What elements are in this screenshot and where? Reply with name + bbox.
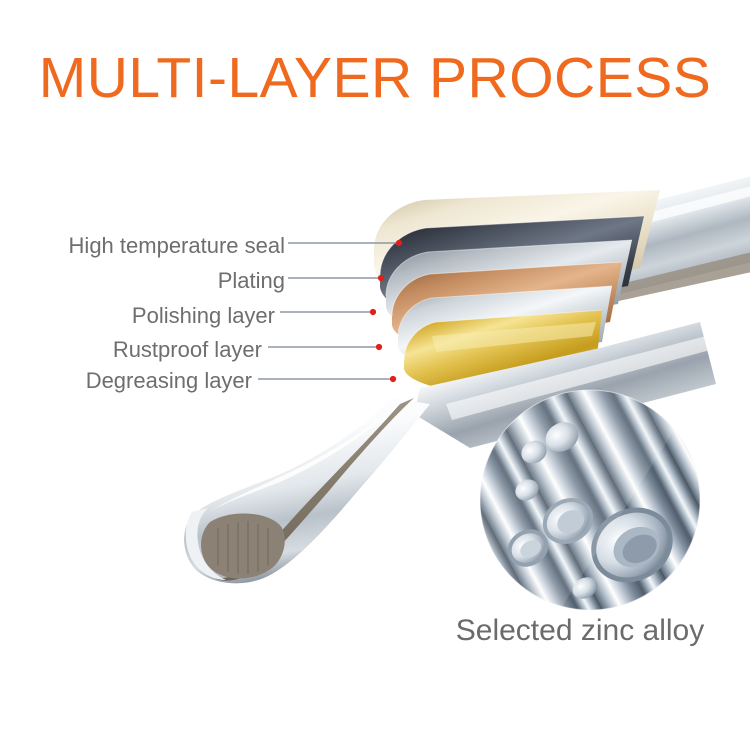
- layer-label-high-temperature-seal: High temperature seal: [0, 233, 285, 259]
- page-title: MULTI-LAYER PROCESS: [0, 46, 750, 110]
- layer-label-rustproof-layer: Rustproof layer: [0, 337, 262, 363]
- layer-label-degreasing-layer: Degreasing layer: [0, 368, 252, 394]
- marker-dot-2: [370, 309, 376, 315]
- layer-label-plating: Plating: [0, 268, 285, 294]
- marker-dot-1: [378, 275, 384, 281]
- faucet-spout: [184, 398, 430, 583]
- marker-dot-4: [390, 376, 396, 382]
- marker-dot-0: [396, 240, 402, 246]
- infographic-canvas: MULTI-LAYER PROCESS High temperature sea…: [0, 0, 750, 750]
- inset-caption: Selected zinc alloy: [420, 612, 740, 650]
- marker-dot-3: [376, 344, 382, 350]
- layer-label-polishing-layer: Polishing layer: [0, 303, 275, 329]
